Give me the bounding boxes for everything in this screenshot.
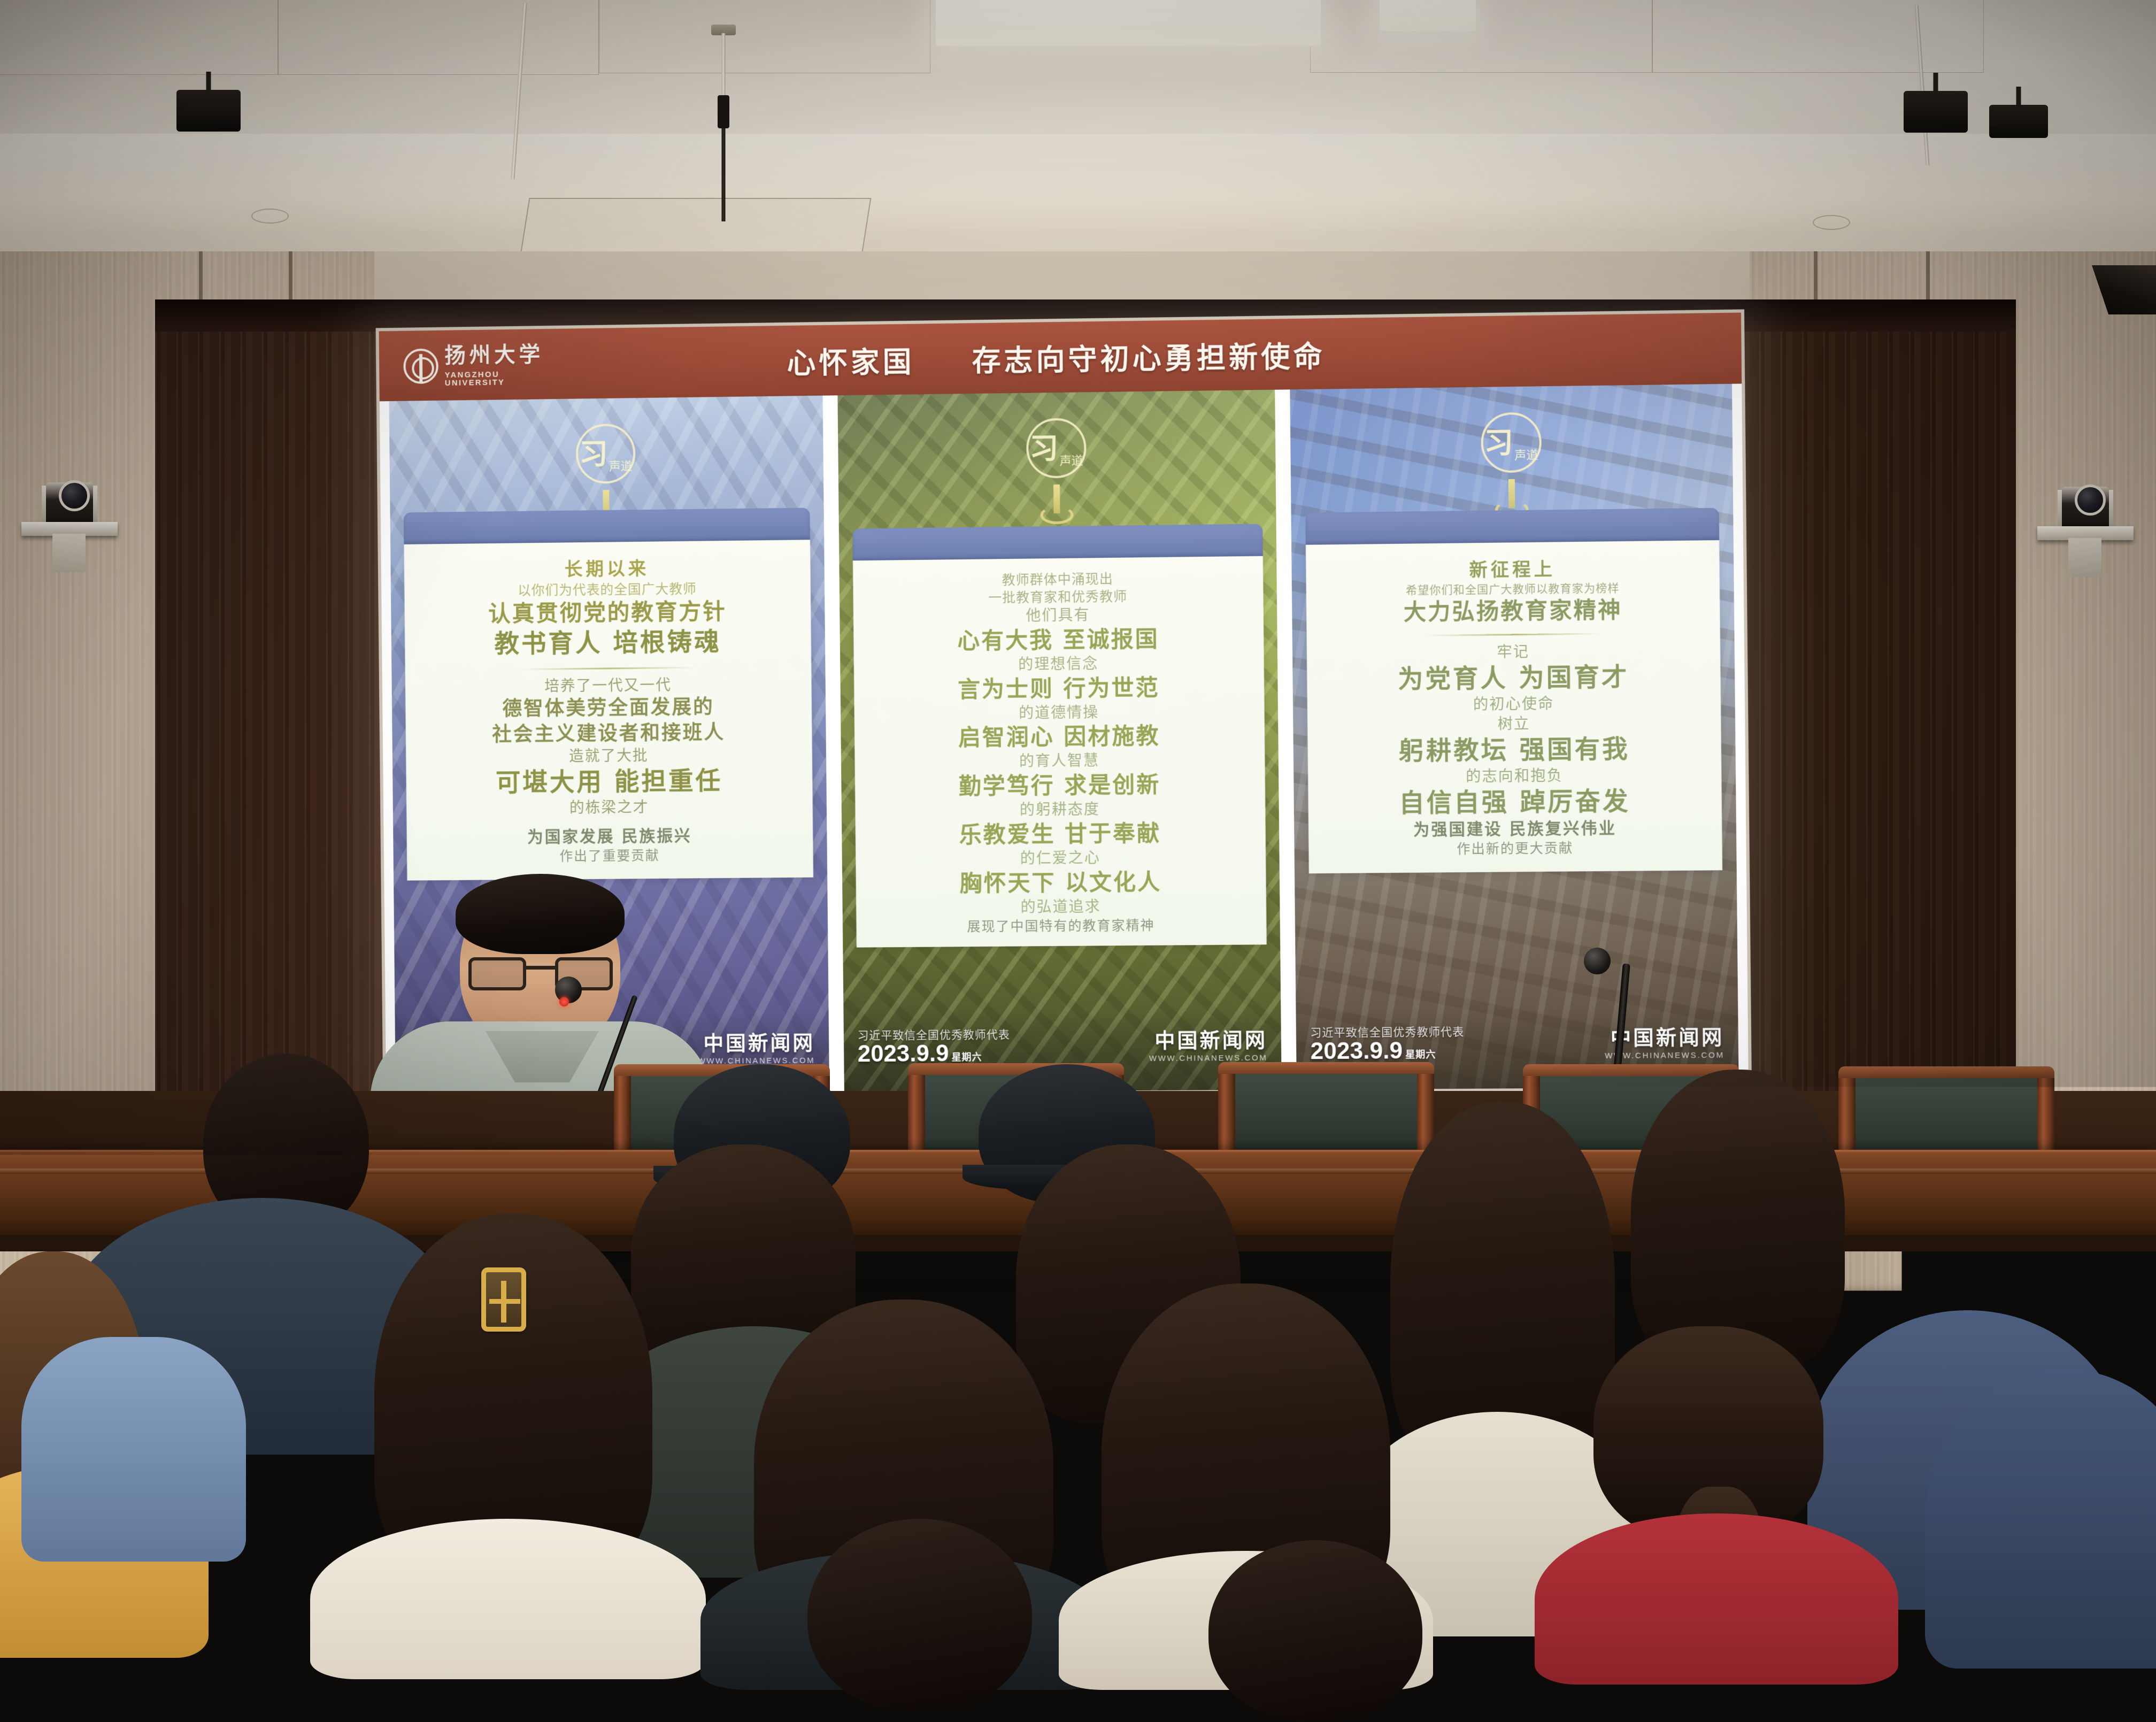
stage-microphone-head-right — [1584, 948, 1611, 974]
card-top-band — [404, 508, 810, 544]
quote-line: 新征程上 — [1315, 556, 1710, 583]
audience-head — [1208, 1540, 1422, 1722]
seal-tassel-icon — [1053, 485, 1060, 513]
ptz-camera-left — [21, 471, 118, 562]
quote-line: 树立 — [1317, 713, 1712, 735]
quote-line: 的仁爱之心 — [863, 848, 1258, 870]
ceiling-smoke-detector — [1813, 215, 1850, 230]
audience-head — [807, 1519, 1032, 1711]
hair-clip-accessory — [481, 1267, 526, 1332]
quote-line: 大力弘扬教育家精神 — [1316, 595, 1711, 627]
card-text-body: 长期以来 以你们为代表的全国广大教师 认真贯彻党的教育方针 教书育人 培根铸魂 … — [404, 540, 813, 880]
quote-line: 长期以来 — [414, 556, 801, 582]
quote-line: 的道德情操 — [861, 702, 1257, 724]
panel-quote-card: 长期以来 以你们为代表的全国广大教师 认真贯彻党的教育方针 教书育人 培根铸魂 … — [404, 508, 813, 880]
audience-hair — [1631, 1070, 1845, 1369]
slide-panel-3: 习 声道 新征程上 希望你们和全国广大教师以教育家为榜样 大力弘扬教育家精神 牢… — [1290, 384, 1739, 1090]
quote-line: 作出了重要贡献 — [417, 846, 804, 866]
quote-line: 的初心使命 — [1316, 693, 1711, 716]
quote-line: 的栋梁之才 — [416, 797, 803, 819]
ceiling-light-panel — [936, 0, 1321, 46]
panel-quote-card: 新征程上 希望你们和全国广大教师以教育家为榜样 大力弘扬教育家精神 牢记 为党育… — [1305, 508, 1722, 874]
slide-title-part2: 存志向守初心勇担新使命 — [972, 339, 1326, 378]
quote-line: 的志向和抱负 — [1318, 765, 1712, 787]
quote-line: 勤学笃行 求是创新 — [863, 770, 1258, 802]
quote-line: 可堪大用 能担重任 — [415, 765, 803, 799]
credit-weekday: 星期六 — [1405, 1050, 1436, 1060]
credit-date: 2023.9.9 — [1310, 1039, 1403, 1064]
quote-line: 的弘道追求 — [864, 896, 1259, 918]
seal-char-sub: 声道 — [609, 460, 633, 473]
quote-line: 乐教爱生 甘于奉献 — [863, 819, 1258, 850]
quote-line: 德智体美劳全面发展的 — [415, 694, 802, 722]
camera-lens-icon — [59, 480, 90, 511]
card-text-body: 新征程上 希望你们和全国广大教师以教育家为榜样 大力弘扬教育家精神 牢记 为党育… — [1306, 540, 1723, 873]
quote-line: 一批教育家和优秀教师 — [860, 587, 1256, 608]
panel-quote-card: 教师群体中涌现出 一批教育家和优秀教师 他们具有 心有大我 至诚报国 的理想信念… — [852, 524, 1266, 948]
ptz-camera-right — [2037, 475, 2134, 566]
seal-char-sub: 声道 — [1059, 455, 1083, 467]
university-name-en: YANGZHOU UNIVERSITY — [445, 370, 563, 387]
card-top-band — [852, 524, 1262, 561]
quote-line: 为国家发展 民族振兴 — [417, 825, 804, 848]
quote-line: 自信自强 踔厉奋发 — [1318, 785, 1712, 820]
quote-line: 社会主义建设者和接班人 — [415, 720, 803, 748]
wall-lamp-right — [1904, 91, 1968, 133]
quote-line: 躬耕教坛 强国有我 — [1317, 733, 1712, 767]
microphone-status-led — [559, 997, 569, 1006]
seal-char-sub: 声道 — [1514, 449, 1538, 462]
slide-title: 心怀家国 存志向守初心勇担新使命 — [787, 333, 1326, 382]
outlet-name: 中国新闻网 — [1149, 1029, 1267, 1052]
quote-divider — [1422, 633, 1604, 637]
lecture-hall-scene: 扬州大学 YANGZHOU UNIVERSITY 心怀家国 存志向守初心勇担新使… — [0, 0, 2156, 1617]
card-top-band — [1305, 508, 1719, 545]
quote-line: 教书育人 培根铸魂 — [414, 626, 802, 660]
ceiling-sprinkler — [251, 209, 289, 224]
seal-tassel-icon — [1508, 479, 1515, 508]
quote-line: 教师群体中涌现出 — [860, 569, 1256, 590]
wall-lamp-far-right — [1989, 105, 2048, 138]
quote-line: 的理想信念 — [861, 653, 1257, 675]
university-emblem-icon — [403, 349, 438, 384]
slide-title-part1: 心怀家国 — [787, 344, 915, 380]
seal-char-main: 习 — [1029, 434, 1058, 463]
quote-line: 认真贯彻党的教育方针 — [414, 597, 802, 629]
quote-line: 以你们为代表的全国广大教师 — [414, 579, 801, 600]
quote-line: 作出新的更大贡献 — [1318, 839, 1713, 858]
quote-line: 启智润心 因材施教 — [862, 721, 1257, 753]
quote-line: 为党育人 为国育才 — [1316, 661, 1711, 696]
quote-line: 心有大我 至诚报国 — [861, 624, 1256, 656]
credit-weekday: 星期六 — [951, 1052, 982, 1063]
camera-lens-icon — [2075, 485, 2106, 516]
quote-line: 他们具有 — [861, 604, 1256, 627]
quote-line: 造就了大批 — [415, 745, 803, 767]
university-logo: 扬州大学 YANGZHOU UNIVERSITY — [403, 335, 562, 396]
seal-char-main: 习 — [1484, 428, 1513, 457]
quote-line: 的躬耕态度 — [863, 799, 1258, 821]
quote-line: 胸怀天下 以文化人 — [863, 867, 1258, 898]
ceiling-light-strip — [1380, 0, 1476, 31]
quote-line: 展现了中国特有的教育家精神 — [864, 916, 1259, 935]
university-name-cn: 扬州大学 — [444, 343, 562, 366]
ceiling-mic-rod — [711, 25, 736, 249]
outlet-url: WWW.CHINANEWS.COM — [1605, 1051, 1724, 1061]
slide-panel-2: 习 声道 教师群体中涌现出 一批教育家和优秀教师 他们具有 心有大我 至诚报国 … — [837, 390, 1282, 1093]
seal-char-main: 习 — [579, 440, 608, 468]
presenter-glasses-icon — [468, 957, 613, 993]
quote-divider — [519, 666, 697, 670]
presenter-hair — [456, 874, 625, 954]
quote-line: 的育人智慧 — [862, 750, 1257, 772]
quote-line: 言为士则 行为世范 — [861, 673, 1257, 704]
audience-torso-red — [1535, 1513, 1898, 1685]
wall-lamp-left — [176, 90, 241, 132]
audience-torso — [21, 1337, 246, 1562]
quote-line: 培养了一代又一代 — [415, 674, 802, 697]
card-text-body: 教师群体中涌现出 一批教育家和优秀教师 他们具有 心有大我 至诚报国 的理想信念… — [853, 556, 1266, 947]
audience-torso — [310, 1519, 706, 1679]
quote-line: 为强国建设 民族复兴伟业 — [1318, 818, 1713, 841]
quote-line: 牢记 — [1316, 641, 1711, 664]
